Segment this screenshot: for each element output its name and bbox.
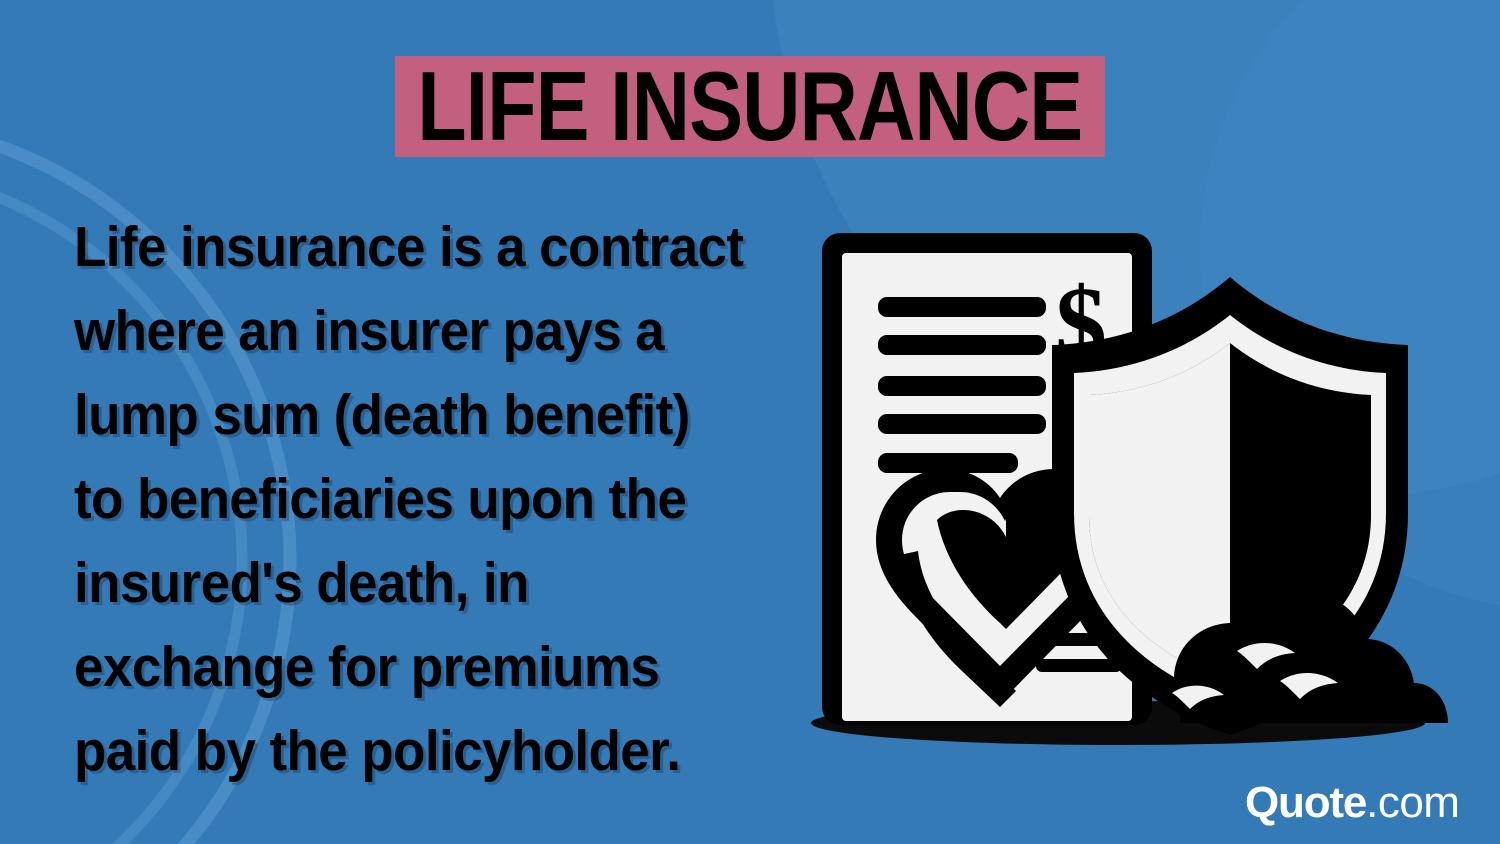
quote-com-logo[interactable]: Quote.com (1245, 780, 1459, 826)
paragraph-line: exchange for premiums (74, 623, 864, 712)
definition-paragraph: Life insurance is a contract where an in… (74, 206, 864, 794)
life-insurance-illustration: $ (800, 215, 1460, 745)
paragraph-line: lump sum (death benefit) (74, 371, 864, 460)
brand-name: Quote (1245, 780, 1366, 826)
infographic-canvas: LIFE INSURANCE Life insurance is a contr… (0, 0, 1500, 844)
paragraph-line: paid by the policyholder. (74, 707, 864, 796)
page-title: LIFE INSURANCE (417, 57, 1082, 155)
title-band: LIFE INSURANCE (395, 56, 1105, 157)
paragraph-line: where an insurer pays a (74, 287, 864, 376)
paragraph-line: to beneficiaries upon the (74, 455, 864, 544)
brand-tld: .com (1366, 780, 1459, 826)
paragraph-line: insured's death, in (74, 539, 864, 628)
paragraph-line: Life insurance is a contract (74, 203, 864, 292)
